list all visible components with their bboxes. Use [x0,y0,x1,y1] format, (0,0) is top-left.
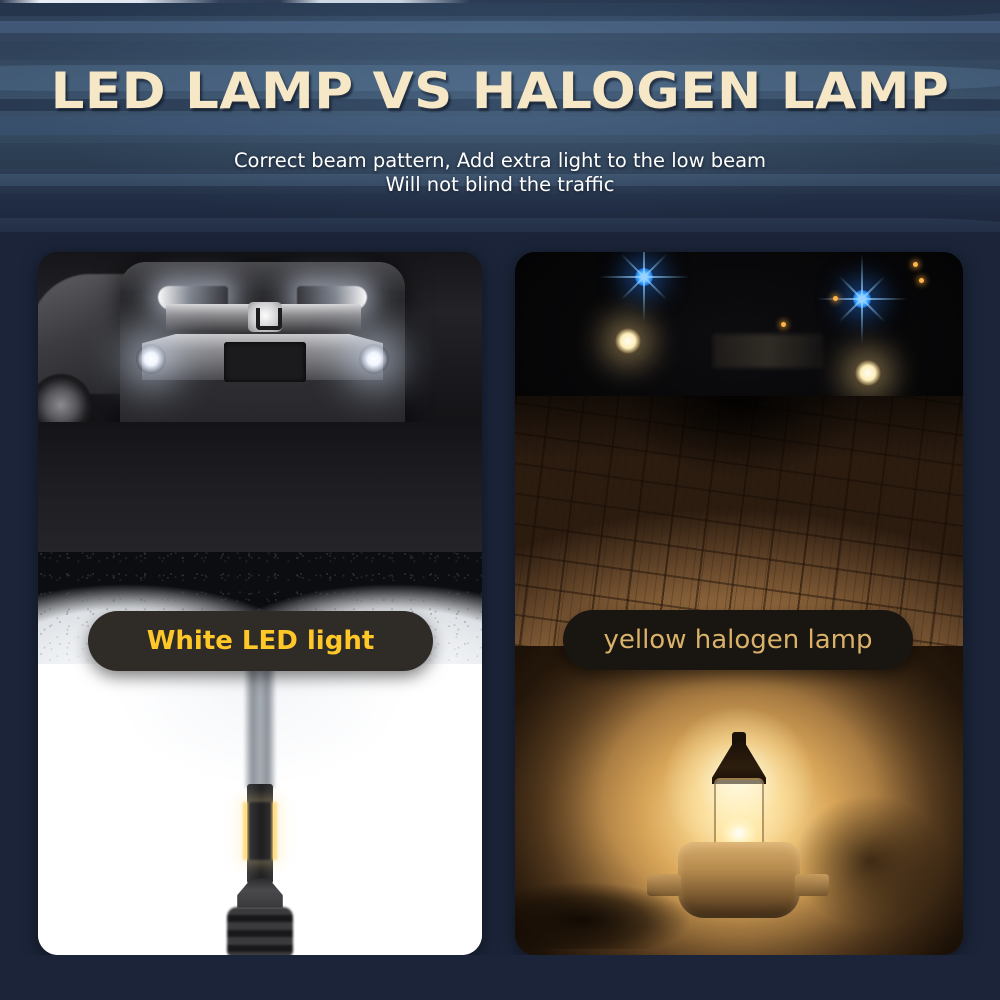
led-car-scene [38,252,482,664]
led-fog-light-right [359,344,389,374]
amber-street-dot [781,322,786,327]
blue-accent-light-right [853,290,871,308]
poster-stage: LED LAMP VS HALOGEN LAMP Correct beam pa… [0,0,1000,1000]
top-edge-sliver [0,0,1000,3]
subtitle-line-2: Will not blind the traffic [0,173,1000,196]
blue-accent-light-left [635,268,653,286]
halogen-headlight-right [855,360,881,386]
photo-halogen-car-night [515,252,963,646]
amber-street-dot [919,278,924,283]
comparison-panel-halogen[interactable] [515,252,963,955]
photo-led-car-night [38,252,482,664]
led-fog-light-left [136,344,166,374]
subtitle-line-1: Correct beam pattern, Add extra light to… [0,149,1000,172]
photo-halogen-bulb [515,646,963,955]
amber-street-dot [833,296,838,301]
dim-license-plate [713,334,823,368]
pavement-shadow [515,396,963,646]
amber-street-dot [913,262,918,267]
badge-yellow-halogen-lamp[interactable]: yellow halogen lamp [563,610,913,670]
halogen-vignette [515,646,963,955]
led-bulb-heatsink-base [227,907,293,955]
led-bulb-light-stem [245,664,276,788]
honda-civic-front [120,262,405,440]
honda-emblem-icon [248,302,282,332]
halogen-headlight-left [615,328,641,354]
license-plate [224,342,306,382]
comparison-panel-led[interactable] [38,252,482,955]
photo-led-bulb [38,664,482,955]
badge-white-led-light[interactable]: White LED light [88,611,433,671]
led-bulb-emitter-chips [243,802,277,860]
badge-label: yellow halogen lamp [603,625,872,655]
bottom-background-fill [0,955,1000,1000]
badge-label: White LED light [147,626,375,656]
page-title: LED LAMP VS HALOGEN LAMP [0,62,1000,120]
flare-streak-v [643,252,645,322]
